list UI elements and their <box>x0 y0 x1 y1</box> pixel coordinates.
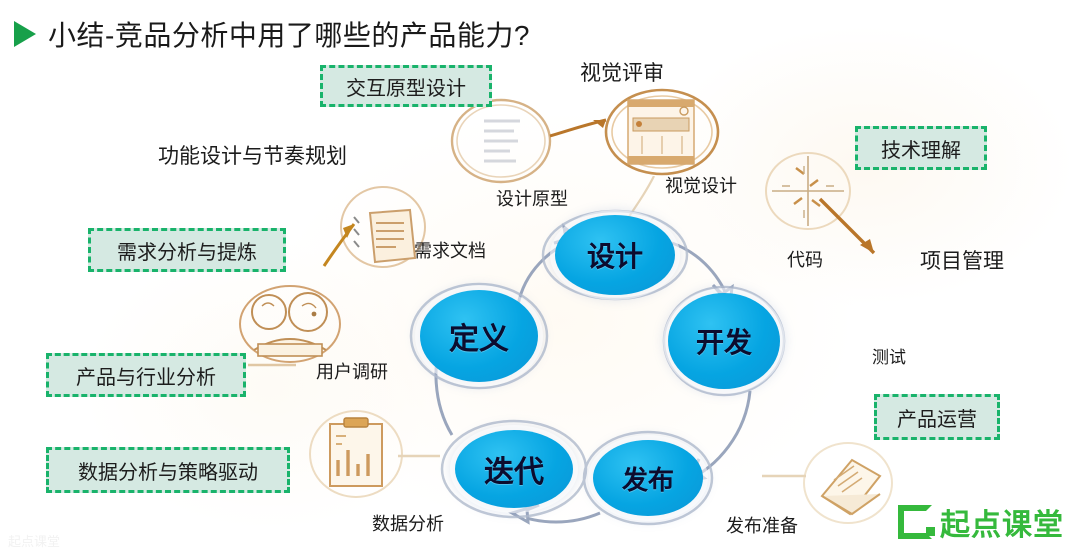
cycle-node-design[interactable]: 设计 <box>555 215 675 295</box>
page-title-text: 小结-竞品分析中用了哪些的产品能力? <box>48 14 530 54</box>
slide-canvas: 小结-竞品分析中用了哪些的产品能力? <box>0 0 1080 552</box>
capability-tag-label: 产品与行业分析 <box>76 361 216 390</box>
capability-tag-label: 产品运营 <box>897 403 977 432</box>
bracket-logo-icon <box>898 505 932 539</box>
stage-label-release-prep: 发布准备 <box>726 512 798 538</box>
cycle-node-develop[interactable]: 开发 <box>668 293 780 389</box>
wireframe-list-icon <box>448 95 554 187</box>
stage-label-code: 代码 <box>787 246 823 272</box>
watermark-text: 起点课堂 <box>8 531 60 550</box>
cycle-node-define[interactable]: 定义 <box>420 290 538 382</box>
stage-label-visual-design: 视觉设计 <box>665 172 737 198</box>
prototype-to-visual-arrow <box>548 110 618 150</box>
code-to-pm-arrow <box>816 195 886 263</box>
capability-tag-interaction-prototype-design[interactable]: 交互原型设计 <box>320 65 492 107</box>
cycle-node-label: 设计 <box>587 235 643 275</box>
stage-label-test: 测试 <box>872 343 906 368</box>
cycle-node-label: 发布 <box>622 460 674 497</box>
stacked-papers-icon <box>800 440 896 526</box>
cycle-node-iterate[interactable]: 迭代 <box>455 430 573 508</box>
mockup-frame-icon <box>602 84 722 180</box>
capability-tag-data-analysis-strategy[interactable]: 数据分析与策略驱动 <box>46 447 290 493</box>
cycle-node-label: 开发 <box>696 321 752 361</box>
brand-logo: 起点课堂 <box>898 500 1064 544</box>
capability-tag-product-industry-analysis[interactable]: 产品与行业分析 <box>46 353 246 397</box>
capability-tag-label: 数据分析与策略驱动 <box>78 456 258 485</box>
two-people-icon <box>236 282 344 366</box>
stage-label-requirement-doc: 需求文档 <box>414 237 486 263</box>
capability-tag-requirement-analysis[interactable]: 需求分析与提炼 <box>88 228 286 272</box>
stage-label-user-research: 用户调研 <box>316 358 388 384</box>
stage-label-data-analysis: 数据分析 <box>372 510 444 536</box>
brand-name: 起点课堂 <box>940 500 1064 544</box>
stage-label-design-prototype: 设计原型 <box>496 185 568 211</box>
cycle-node-label: 迭代 <box>484 447 544 491</box>
green-triangle-icon <box>14 21 36 47</box>
clipboard-chart-icon <box>306 406 406 502</box>
cycle-node-release[interactable]: 发布 <box>593 440 703 516</box>
capability-tag-product-operation[interactable]: 产品运营 <box>874 394 1000 440</box>
product-analysis-connector <box>248 360 298 370</box>
page-title: 小结-竞品分析中用了哪些的产品能力? <box>14 14 530 54</box>
capability-tag-label: 交互原型设计 <box>346 72 466 101</box>
stage-label-function-design: 功能设计与节奏规划 <box>158 140 347 170</box>
capability-tag-technical-understanding[interactable]: 技术理解 <box>855 126 987 170</box>
stage-label-project-management: 项目管理 <box>920 245 1004 275</box>
requirement-arrow <box>318 214 364 270</box>
cycle-node-label: 定义 <box>449 314 509 358</box>
capability-tag-label: 需求分析与提炼 <box>117 236 257 265</box>
capability-tag-label: 技术理解 <box>881 134 961 163</box>
stage-label-visual-review: 视觉评审 <box>580 57 664 87</box>
